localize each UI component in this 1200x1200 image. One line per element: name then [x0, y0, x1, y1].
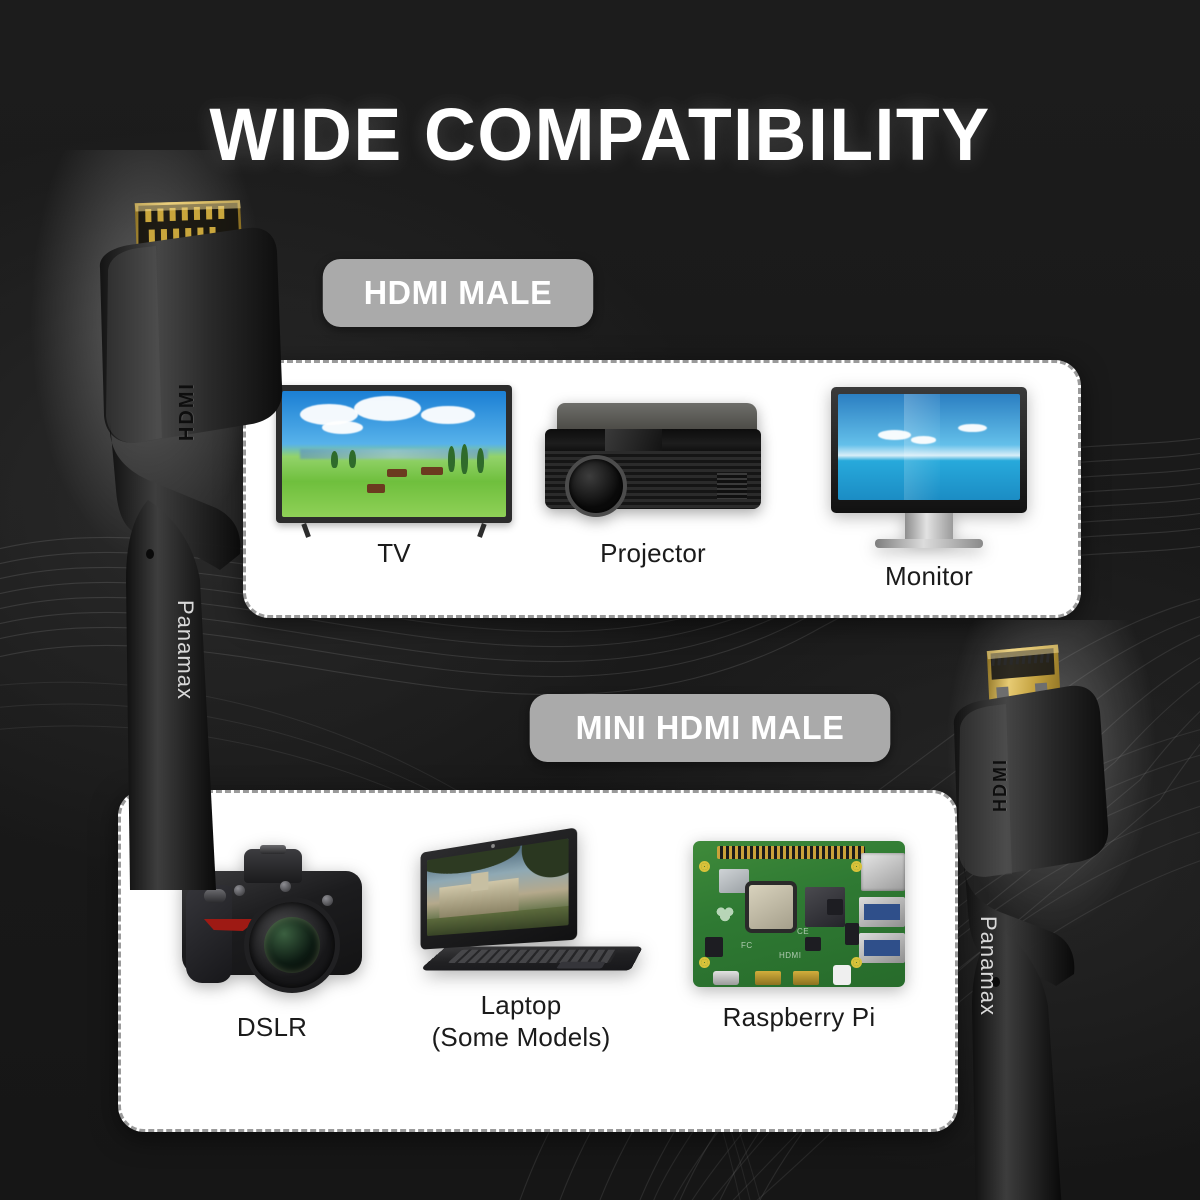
badge-hdmi-male: HDMI MALE [323, 259, 593, 327]
tv-icon [276, 385, 512, 537]
raspberry-pi-icon: HDMI CE FC [693, 841, 905, 987]
device-label: Raspberry Pi [723, 1001, 876, 1033]
device-label: Projector [600, 537, 706, 569]
device-cell-raspberry-pi: HDMI CE FC Raspberry Pi [669, 841, 929, 1033]
mini-hdmi-male-device-panel: DSLR Laptop (Some Models) [118, 790, 958, 1132]
mini-cable-brand-panamax: Panamax [975, 916, 1001, 1016]
laptop-icon [405, 841, 637, 981]
device-label: TV [377, 537, 411, 569]
device-label: DSLR [237, 1011, 307, 1043]
monitor-icon [831, 387, 1027, 548]
device-cell-tv: TV [274, 385, 514, 569]
badge-mini-hdmi-male: MINI HDMI MALE [530, 694, 891, 762]
page-title: WIDE COMPATIBILITY [18, 96, 1182, 174]
device-label: Laptop (Some Models) [432, 989, 611, 1053]
device-label: Monitor [885, 560, 973, 592]
hdmi-male-device-panel: TV Projector [243, 360, 1081, 618]
rpi-fc-silkscreen: FC [741, 941, 753, 950]
projector-icon [545, 403, 761, 515]
device-cell-laptop: Laptop (Some Models) [393, 841, 649, 1053]
tv-stand [276, 523, 512, 537]
cable-brand-panamax: Panamax [172, 600, 198, 700]
device-cell-projector: Projector [518, 403, 788, 569]
rpi-hdmi-silkscreen: HDMI [779, 951, 801, 960]
device-cell-monitor: Monitor [804, 387, 1054, 592]
badge-label: MINI HDMI MALE [576, 709, 845, 747]
promo-graphic: WIDE COMPATIBILITY [0, 0, 1200, 1200]
hdmi-emboss-text: HDMI [176, 382, 199, 441]
mini-hdmi-emboss-text: HDMI [990, 758, 1011, 812]
device-cell-dslr: DSLR [159, 845, 385, 1043]
badge-label: HDMI MALE [364, 274, 553, 312]
rpi-ce-silkscreen: CE [797, 927, 809, 936]
dslr-camera-icon [182, 845, 362, 1001]
